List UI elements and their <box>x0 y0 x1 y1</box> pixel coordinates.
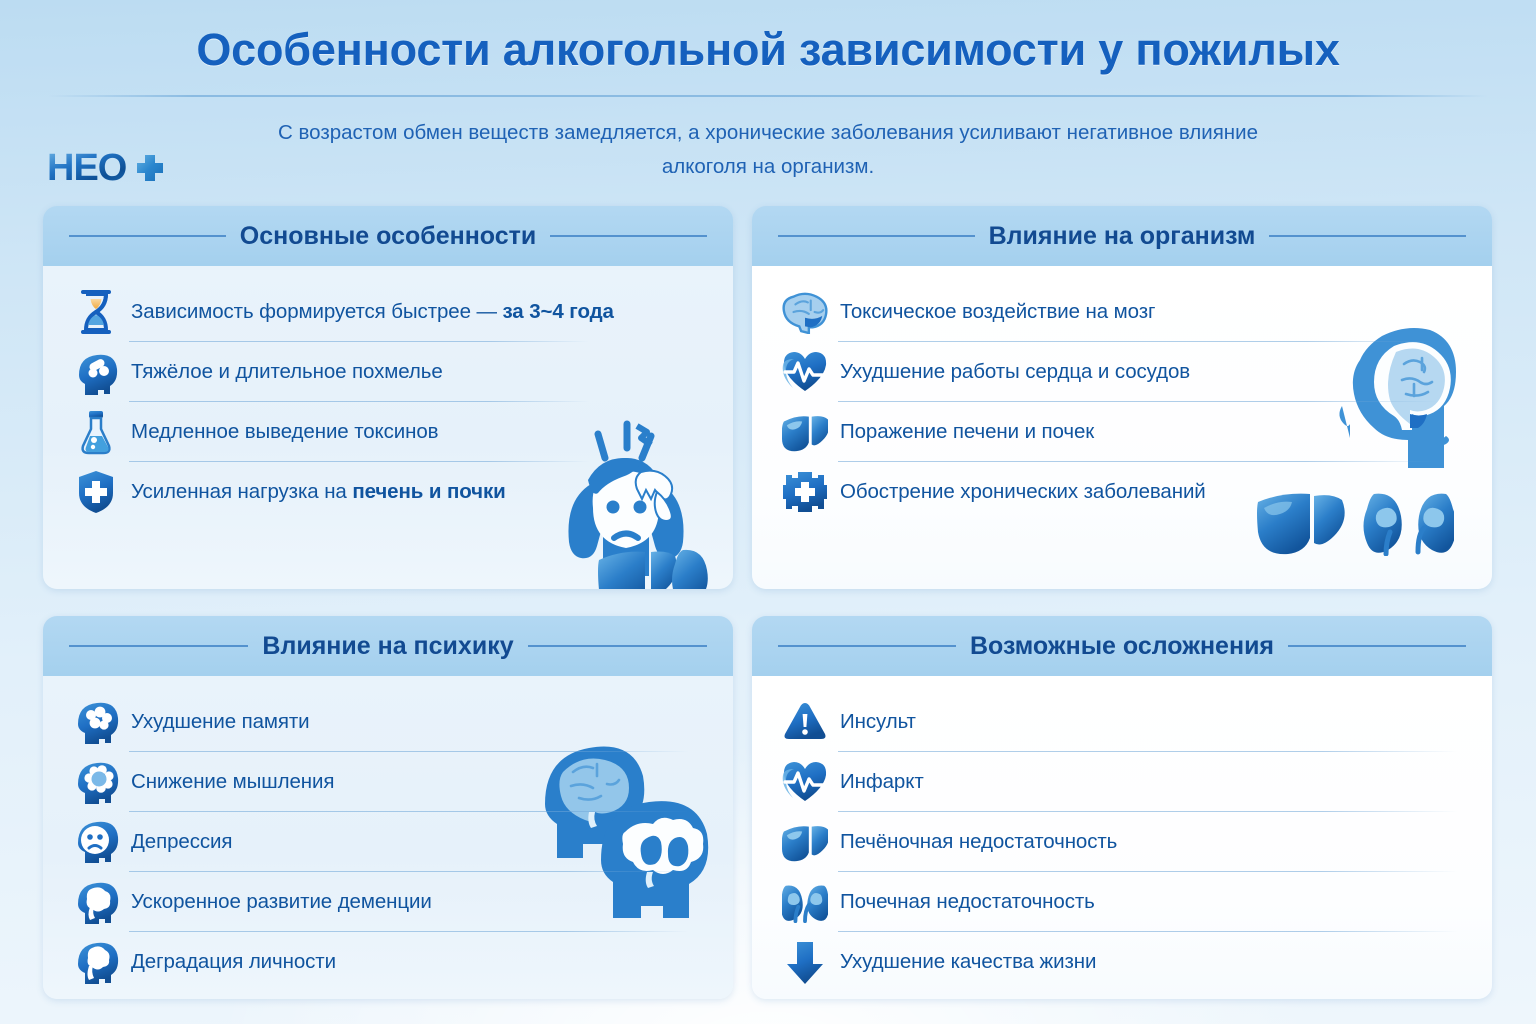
list-item-label: Почечная недостаточность <box>840 890 1095 914</box>
list-item-label: Печёночная недостаточность <box>840 830 1117 854</box>
list-item[interactable]: Деградация личности <box>43 932 733 992</box>
brain-icon <box>782 289 828 335</box>
list-item-label: Зависимость формируется быстрее — за 3~4… <box>131 300 614 324</box>
liver-icon <box>782 819 828 865</box>
list-item-label: Ухудшение памяти <box>131 710 310 734</box>
card-rows: Инсульт Инфаркт <box>752 676 1492 999</box>
card-header: Возможные осложнения <box>752 616 1492 676</box>
down-arrow-icon <box>782 939 828 985</box>
heart-pulse-icon <box>782 759 828 805</box>
heart-pulse-icon <box>782 349 828 395</box>
list-item[interactable]: Обострение хронических заболеваний <box>752 462 1492 522</box>
list-item-label: Ухудшение работы сердца и сосудов <box>840 360 1190 384</box>
header-rule-left <box>69 235 226 237</box>
logo-plus-icon <box>130 148 170 188</box>
list-item-label: Медленное выведение токсинов <box>131 420 438 444</box>
card-header: Влияние на психику <box>43 616 733 676</box>
list-item-label: Поражение печени и почек <box>840 420 1094 444</box>
medical-cross-icon <box>782 469 828 515</box>
header-rule-left <box>778 235 975 237</box>
card-title: Влияние на психику <box>262 632 513 661</box>
list-item-label: Усиленная нагрузка на печень и почки <box>131 480 506 504</box>
card-rows: Зависимость формируется быстрее — за 3~4… <box>43 266 733 589</box>
warning-triangle-icon <box>782 699 828 745</box>
list-item-label: Инфаркт <box>840 770 924 794</box>
card-rows: Токсическое воздействие на мозг Ухудшени… <box>752 266 1492 589</box>
card-header: Основные особенности <box>43 206 733 266</box>
page-title: Особенности алкогольной зависимости у по… <box>0 24 1536 76</box>
list-item-label: Инсульт <box>840 710 916 734</box>
list-item-label: Депрессия <box>131 830 232 854</box>
liver-icon <box>782 409 828 455</box>
card-body: Токсическое воздействие на мозг Ухудшени… <box>752 266 1492 589</box>
list-item[interactable]: Ускоренное развитие деменции <box>43 872 733 932</box>
list-item[interactable]: Усиленная нагрузка на печень и почки <box>43 462 733 522</box>
list-item[interactable]: Медленное выведение токсинов <box>43 402 733 462</box>
card-body: Зависимость формируется быстрее — за 3~4… <box>43 266 733 589</box>
header-rule-left <box>778 645 956 647</box>
title-divider <box>48 95 1488 97</box>
list-item[interactable]: Ухудшение качества жизни <box>752 932 1492 992</box>
head-memory-icon <box>73 699 119 745</box>
flask-icon <box>73 409 119 455</box>
list-item-label: Ухудшение качества жизни <box>840 950 1096 974</box>
logo-text: НЕО <box>47 149 126 187</box>
list-item[interactable]: Снижение мышления <box>43 752 733 812</box>
shield-cross-icon <box>73 469 119 515</box>
card-osnovnye-osobennosti: Основные особенности <box>43 206 733 589</box>
list-item[interactable]: Почечная недостаточность <box>752 872 1492 932</box>
list-item-label: Ускоренное развитие деменции <box>131 890 432 914</box>
head-sad-face-icon <box>73 819 119 865</box>
card-title: Возможные осложнения <box>970 632 1274 661</box>
list-item[interactable]: Инфаркт <box>752 752 1492 812</box>
head-dementia-icon <box>73 879 119 925</box>
card-body: Инсульт Инфаркт <box>752 676 1492 999</box>
card-vliyanie-na-psihiku: Влияние на психику <box>43 616 733 999</box>
list-item-label: Токсическое воздействие на мозг <box>840 300 1155 324</box>
card-rows: Ухудшение памяти Снижение мышле <box>43 676 733 999</box>
card-title: Основные особенности <box>240 222 537 251</box>
hourglass-icon <box>73 289 119 335</box>
list-item[interactable]: Токсическое воздействие на мозг <box>752 282 1492 342</box>
list-item[interactable]: Депрессия <box>43 812 733 872</box>
neo-plus-logo: НЕО <box>47 147 170 189</box>
card-title: Влияние на организм <box>989 222 1256 251</box>
header-rule-right <box>550 235 707 237</box>
header-rule-right <box>528 645 707 647</box>
header-rule-left <box>69 645 248 647</box>
head-thinking-icon <box>73 759 119 805</box>
header-rule-right <box>1288 645 1466 647</box>
card-vozmozhnye-oslozhneniya: Возможные осложнения Инсульт <box>752 616 1492 999</box>
head-pills-icon <box>73 349 119 395</box>
list-item[interactable]: Поражение печени и почек <box>752 402 1492 462</box>
list-item-label: Снижение мышления <box>131 770 334 794</box>
card-body: Ухудшение памяти Снижение мышле <box>43 676 733 999</box>
list-item[interactable]: Ухудшение работы сердца и сосудов <box>752 342 1492 402</box>
header-rule-right <box>1269 235 1466 237</box>
list-item-label: Тяжёлое и длительное похмелье <box>131 360 443 384</box>
list-item[interactable]: Тяжёлое и длительное похмелье <box>43 342 733 402</box>
card-vliyanie-na-organizm: Влияние на организм <box>752 206 1492 589</box>
card-header: Влияние на организм <box>752 206 1492 266</box>
list-item-label: Деградация личности <box>131 950 336 974</box>
kidneys-icon <box>782 879 828 925</box>
list-item[interactable]: Зависимость формируется быстрее — за 3~4… <box>43 282 733 342</box>
head-degradation-icon <box>73 939 119 985</box>
list-item[interactable]: Инсульт <box>752 692 1492 752</box>
list-item[interactable]: Печёночная недостаточность <box>752 812 1492 872</box>
list-item[interactable]: Ухудшение памяти <box>43 692 733 752</box>
list-item-label: Обострение хронических заболеваний <box>840 480 1206 504</box>
page-subtitle: С возрастом обмен веществ замедляется, а… <box>268 116 1268 184</box>
